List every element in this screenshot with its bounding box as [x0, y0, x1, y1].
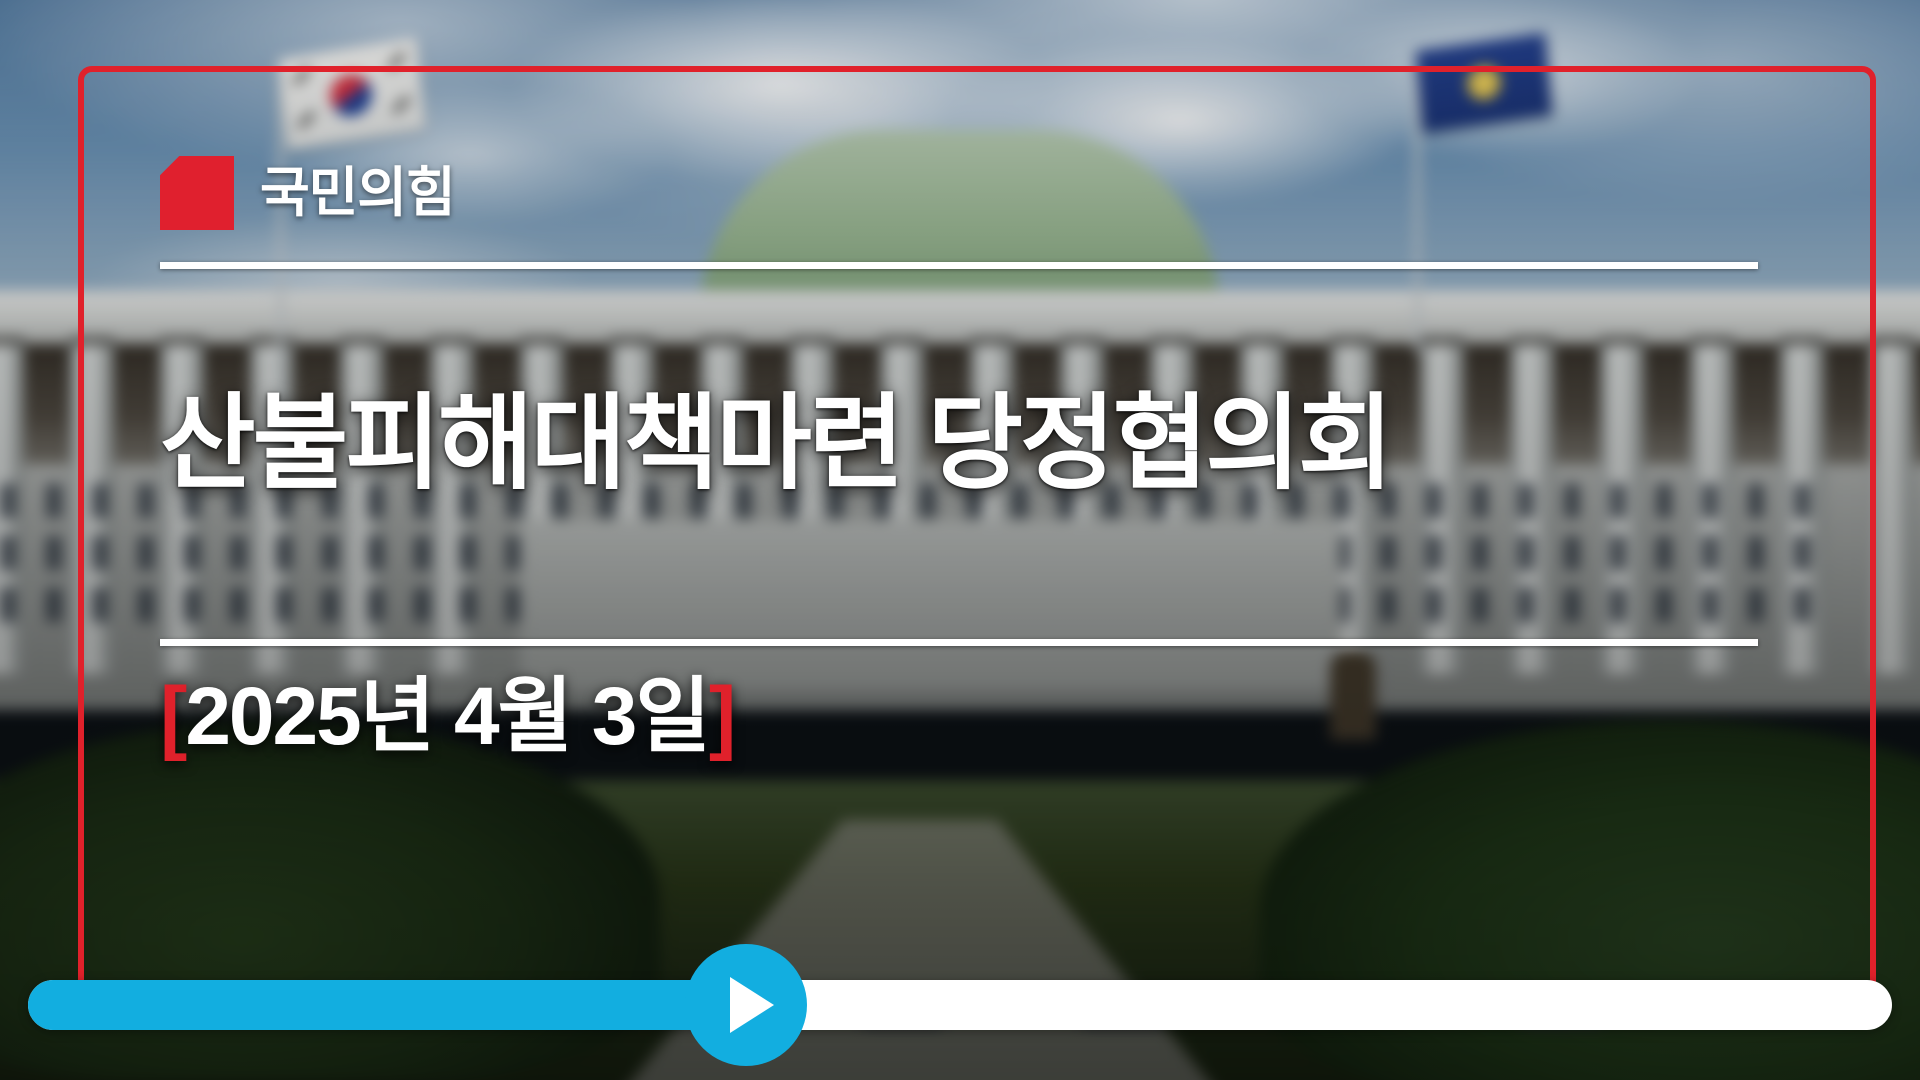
ppp-hexagon-logo-icon — [160, 156, 234, 230]
date-open-bracket: [ — [160, 671, 185, 762]
divider-top — [160, 262, 1758, 269]
date-label: [2025년 4월 3일] — [160, 674, 1810, 760]
play-button[interactable] — [685, 944, 807, 1066]
date-close-bracket: ] — [709, 671, 734, 762]
date-text: 2025년 4월 3일 — [185, 671, 709, 762]
video-progress-bar[interactable] — [28, 980, 1892, 1030]
divider-bottom — [160, 639, 1758, 646]
page-title: 산불피해대책마련 당정협의회 — [160, 389, 1810, 499]
overlay-content: 국민의힘 산불피해대책마련 당정협의회 [2025년 4월 3일] — [160, 150, 1810, 760]
progress-fill — [28, 980, 746, 1030]
play-triangle-icon — [730, 977, 774, 1033]
video-thumbnail-stage: 국민의힘 산불피해대책마련 당정협의회 [2025년 4월 3일] — [0, 0, 1920, 1080]
party-name: 국민의힘 — [260, 166, 455, 220]
brand-row: 국민의힘 — [160, 150, 1810, 236]
